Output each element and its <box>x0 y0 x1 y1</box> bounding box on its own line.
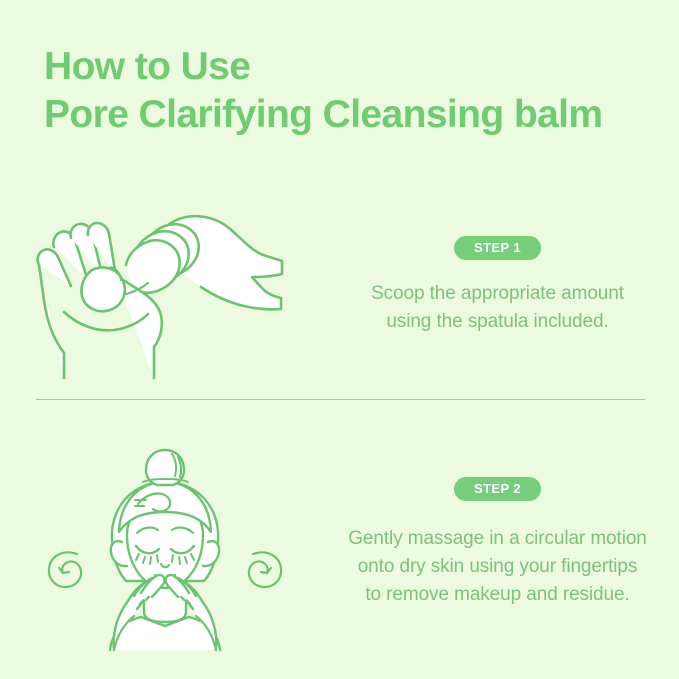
swirl-left-icon <box>49 552 81 587</box>
step-1-badge: STEP 1 <box>454 236 541 260</box>
section-divider <box>36 399 645 400</box>
step-2-row: STEP 2 Gently massage in a circular moti… <box>0 428 679 658</box>
woman-massaging-face-icon <box>40 436 290 651</box>
step-2-badge: STEP 2 <box>454 477 541 501</box>
step-1-copy: STEP 1 Scoop the appropriate amount usin… <box>330 236 679 336</box>
step-1-description-line-1: Scoop the appropriate amount <box>371 280 624 308</box>
title-line-1: How to Use <box>44 43 664 91</box>
swirl-right-icon <box>249 552 281 587</box>
how-to-use-infographic: How to Use Pore Clarifying Cleansing bal… <box>0 0 679 679</box>
step-2-description: Gently massage in a circular motion onto… <box>348 525 647 609</box>
step-1-description: Scoop the appropriate amount using the s… <box>371 280 624 336</box>
step-1-row: STEP 1 Scoop the appropriate amount usin… <box>0 186 679 386</box>
step-2-illustration <box>0 428 330 658</box>
step-2-copy: STEP 2 Gently massage in a circular moti… <box>330 477 679 609</box>
page-title: How to Use Pore Clarifying Cleansing bal… <box>44 43 664 139</box>
hand-scooping-balm-with-spatula-icon <box>30 194 300 379</box>
step-2-description-line-1: Gently massage in a circular motion <box>348 525 647 553</box>
step-1-description-line-2: using the spatula included. <box>371 308 624 336</box>
step-2-description-line-3: to remove makeup and residue. <box>348 581 647 609</box>
title-line-2: Pore Clarifying Cleansing balm <box>44 91 664 139</box>
step-2-description-line-2: onto dry skin using your fingertips <box>348 553 647 581</box>
step-1-illustration <box>0 186 330 386</box>
